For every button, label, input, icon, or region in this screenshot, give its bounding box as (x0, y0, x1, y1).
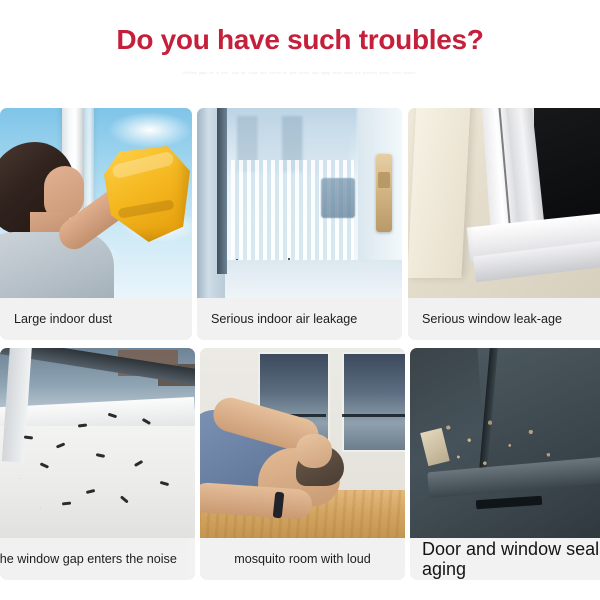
trouble-card-serious-indoor-air-leakage[interactable]: Serious indoor air leakage (197, 108, 402, 340)
promotional-page: Do you have such troubles? Window gaps l… (0, 0, 600, 600)
card-caption-text: Serious window leak-age (422, 313, 562, 326)
page-subtitle: Window gaps let in dust, cold air, noise… (0, 71, 600, 76)
frosted-condensation-window-photo (197, 108, 402, 298)
trouble-card-door-window-seal-aging[interactable]: Door and window seal aging (410, 348, 600, 580)
card-caption-text: mosquito room with loud (234, 553, 371, 566)
page-header: Do you have such troubles? Window gaps l… (0, 0, 600, 100)
trouble-card-serious-window-leakage[interactable]: Serious window leak-age (408, 108, 600, 340)
woman-cleaning-window-photo (0, 108, 192, 298)
card-caption: The window gap enters the noise (0, 538, 187, 580)
man-covering-ears-photo (200, 348, 405, 538)
card-caption-text: Door and window seal aging (422, 539, 600, 579)
card-caption: mosquito room with loud (200, 538, 405, 580)
card-row-1: Large indoor dust (0, 108, 600, 348)
window-handle (376, 154, 392, 232)
aged-window-seal-photo (410, 348, 600, 538)
page-title: Do you have such troubles? (0, 24, 600, 56)
card-caption: Door and window seal aging (410, 538, 600, 580)
trouble-card-mosquito-loud-room[interactable]: mosquito room with loud (200, 348, 405, 580)
white-window-frame-corner-photo (408, 108, 600, 298)
card-caption-text: Serious indoor air leakage (211, 313, 357, 326)
card-caption: Large indoor dust (0, 298, 192, 340)
trouble-cards-grid: Large indoor dust (0, 108, 600, 588)
card-caption: Serious window leak-age (408, 298, 600, 340)
card-caption-text: Large indoor dust (14, 313, 112, 326)
card-caption: Serious indoor air leakage (197, 298, 402, 340)
insects-on-window-sill-photo (0, 348, 195, 538)
card-caption-text: The window gap enters the noise (0, 553, 177, 566)
card-row-2: The window gap enters the noise (0, 348, 600, 588)
trouble-card-window-gap-noise[interactable]: The window gap enters the noise (0, 348, 195, 580)
trouble-card-large-indoor-dust[interactable]: Large indoor dust (0, 108, 192, 340)
